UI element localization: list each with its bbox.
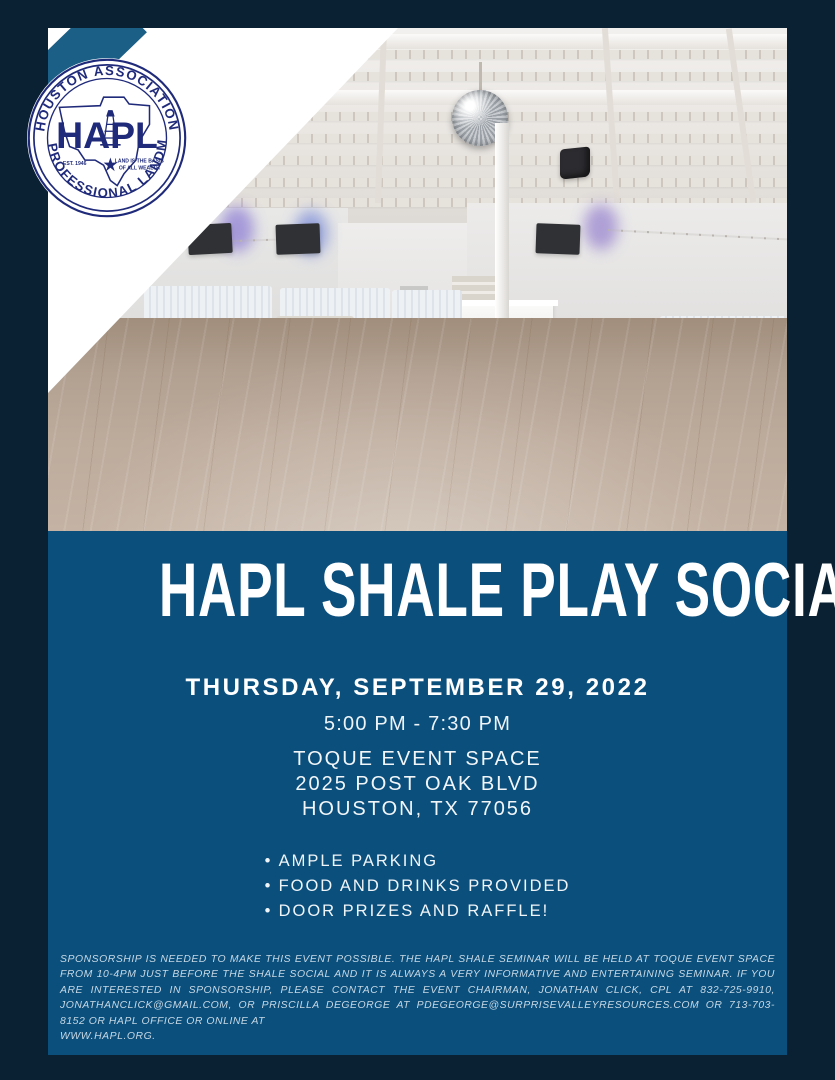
seal-motto-line2: OF ALL WEALTH <box>119 165 160 171</box>
sponsorship-website: WWW.HAPL.ORG. <box>60 1029 775 1044</box>
list-item-label: DOOR PRIZES AND RAFFLE! <box>279 902 550 920</box>
disco-ball-rod <box>479 62 482 92</box>
list-item-label: FOOD AND DRINKS PROVIDED <box>279 877 571 895</box>
list-item: •AMPLE PARKING <box>265 849 571 874</box>
sponsorship-fineprint: SPONSORSHIP IS NEEDED TO MAKE THIS EVENT… <box>60 952 775 1044</box>
features-list: •AMPLE PARKING •FOOD AND DRINKS PROVIDED… <box>48 849 787 924</box>
event-time: 5:00 PM - 7:30 PM <box>48 713 787 736</box>
venue-address: TOQUE EVENT SPACE 2025 POST OAK BLVD HOU… <box>48 747 787 822</box>
seal-monogram: HAPL <box>56 114 158 156</box>
event-date: THURSDAY, SEPTEMBER 29, 2022 <box>48 674 787 702</box>
wall-monitor <box>535 223 580 255</box>
venue-name: TOQUE EVENT SPACE <box>48 747 787 772</box>
hapl-seal-logo: HOUSTON ASSOCIATION OF PROFESSIONAL LAND… <box>22 53 192 223</box>
list-item: •DOOR PRIZES AND RAFFLE! <box>265 899 571 924</box>
flyer-canvas: HOUSTON ASSOCIATION OF PROFESSIONAL LAND… <box>0 0 835 1080</box>
venue-city-state-zip: HOUSTON, TX 77056 <box>48 797 787 822</box>
speaker <box>560 146 590 179</box>
page-title: HAPL SHALE PLAY SOCIAL <box>159 553 676 629</box>
list-item-label: AMPLE PARKING <box>279 852 439 870</box>
bullet-icon: • <box>265 849 279 874</box>
sponsorship-paragraph: SPONSORSHIP IS NEEDED TO MAKE THIS EVENT… <box>60 954 775 1027</box>
venue-street: 2025 POST OAK BLVD <box>48 772 787 797</box>
bullet-icon: • <box>265 899 279 924</box>
bullet-icon: • <box>265 874 279 899</box>
seal-motto-line1: LAND IS THE BASIS <box>115 159 165 165</box>
seal-established: EST. 1946 <box>63 161 87 167</box>
list-item: •FOOD AND DRINKS PROVIDED <box>265 874 571 899</box>
uplight-glow <box>584 204 618 250</box>
floor-sheen <box>48 318 787 533</box>
info-panel: HAPL SHALE PLAY SOCIAL THURSDAY, SEPTEMB… <box>48 531 787 1055</box>
wall-monitor <box>275 223 320 255</box>
